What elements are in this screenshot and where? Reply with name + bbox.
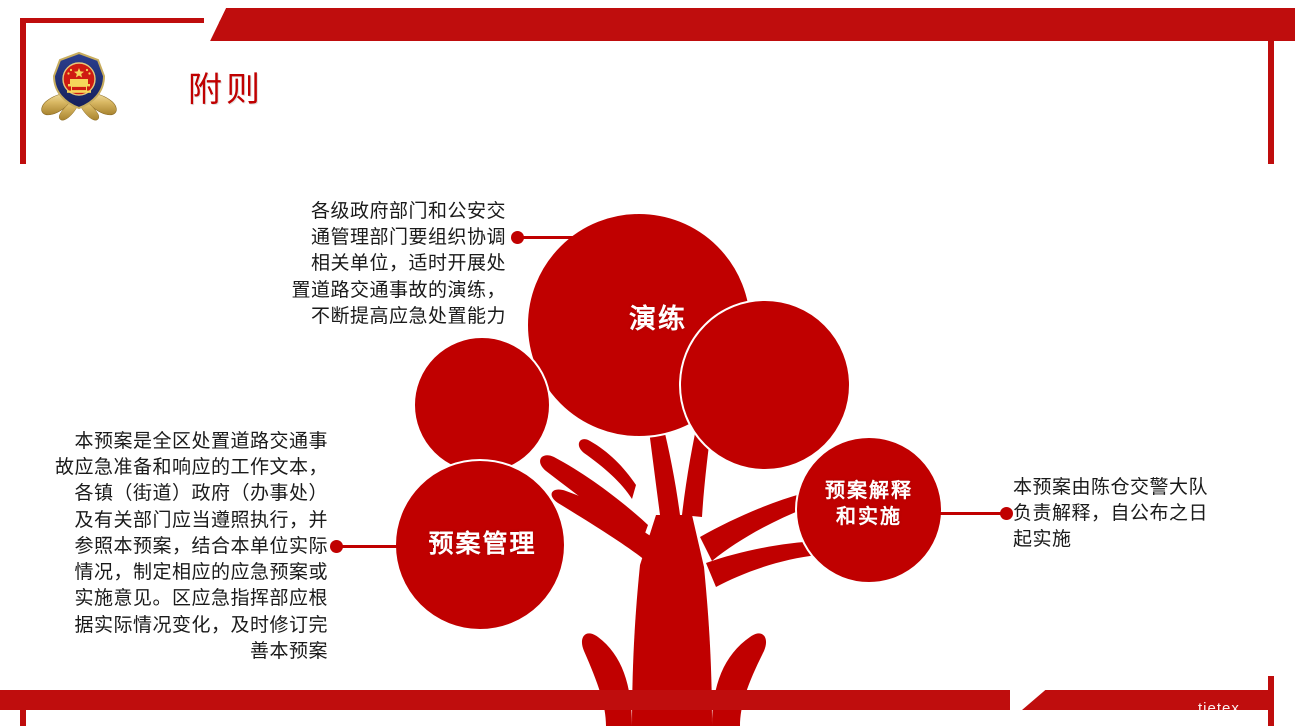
connector-dot-top	[511, 231, 524, 244]
connector-dot-right	[1000, 507, 1013, 520]
connector-dot-left	[330, 540, 343, 553]
connector-line-left	[334, 545, 434, 548]
frame-top-left-line	[20, 18, 220, 23]
watermark-text: tietex	[1198, 700, 1240, 717]
frame-left-vertical-bar	[20, 18, 26, 164]
page-title: 附则	[188, 62, 264, 111]
description-text-yuan-an-guanli: 本预案是全区处置道路交通事 故应急准备和响应的工作文本， 各镇（街道）政府（办事…	[28, 428, 328, 664]
frame-bottom-left-bar	[20, 690, 26, 726]
slide-canvas: 附则	[0, 0, 1295, 726]
description-text-yanlian: 各级政府部门和公安交 通管理部门要组织协调 相关单位，适时开展处 置道路交通事故…	[258, 198, 506, 329]
frame-bottom-right-bar	[1268, 676, 1274, 726]
connector-line-top	[516, 236, 631, 239]
footer-red-banner	[0, 690, 1274, 710]
description-text-jieshi-shishi: 本预案由陈仓交警大队 负责解释，自公布之日 起实施	[1013, 474, 1248, 553]
china-police-emblem-icon	[38, 48, 120, 124]
header-red-banner	[210, 8, 1295, 41]
